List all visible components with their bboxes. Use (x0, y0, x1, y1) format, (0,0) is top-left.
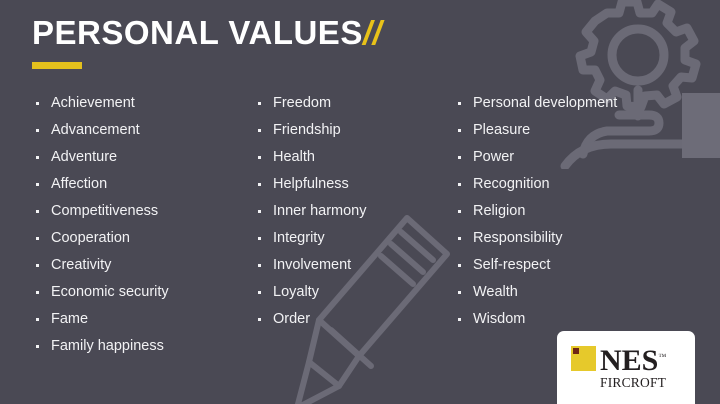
bullet-icon (258, 291, 261, 294)
list-item-label: Competitiveness (51, 203, 158, 219)
bullet-icon (36, 318, 39, 321)
list-item-label: Helpfulness (273, 176, 349, 192)
list-item: Advancement (33, 117, 248, 144)
list-item-label: Wealth (473, 284, 518, 300)
list-item: Personal development (455, 90, 685, 117)
bullet-icon (258, 129, 261, 132)
list-item: Inner harmony (255, 198, 450, 225)
list-item: Adventure (33, 144, 248, 171)
values-column-1: Achievement Advancement Adventure Affect… (33, 90, 248, 360)
bullet-icon (258, 210, 261, 213)
list-item-label: Family happiness (51, 338, 164, 354)
list-item: Friendship (255, 117, 450, 144)
value-list-1: Achievement Advancement Adventure Affect… (33, 90, 248, 360)
bullet-icon (36, 291, 39, 294)
logo-brand-name: NES™ (600, 343, 666, 375)
list-item-label: Order (273, 311, 310, 327)
bullet-icon (258, 237, 261, 240)
list-item: Responsibility (455, 225, 685, 252)
bullet-icon (258, 156, 261, 159)
list-item: Wealth (455, 279, 685, 306)
values-column-2: Freedom Friendship Health Helpfulness In… (255, 90, 450, 333)
list-item-label: Adventure (51, 149, 117, 165)
list-item: Helpfulness (255, 171, 450, 198)
list-item-label: Freedom (273, 95, 331, 111)
bullet-icon (36, 237, 39, 240)
list-item-label: Affection (51, 176, 107, 192)
bullet-icon (458, 237, 461, 240)
list-item-label: Responsibility (473, 230, 562, 246)
list-item: Economic security (33, 279, 248, 306)
list-item: Achievement (33, 90, 248, 117)
logo-square-icon (571, 346, 596, 371)
list-item: Cooperation (33, 225, 248, 252)
list-item-label: Loyalty (273, 284, 319, 300)
list-item: Order (255, 306, 450, 333)
list-item-label: Pleasure (473, 122, 530, 138)
values-column-3: Personal development Pleasure Power Reco… (455, 90, 685, 333)
bullet-icon (36, 156, 39, 159)
list-item-label: Economic security (51, 284, 169, 300)
bullet-icon (258, 102, 261, 105)
bullet-icon (458, 291, 461, 294)
list-item: Pleasure (455, 117, 685, 144)
trademark-icon: ™ (658, 352, 666, 361)
page-title-text: PERSONAL VALUES (32, 14, 363, 51)
list-item-label: Personal development (473, 95, 617, 111)
title-underline-rule (32, 62, 82, 69)
list-item-label: Involvement (273, 257, 351, 273)
list-item-label: Religion (473, 203, 525, 219)
list-item: Religion (455, 198, 685, 225)
logo-dot-icon (573, 348, 579, 354)
list-item-label: Cooperation (51, 230, 130, 246)
bullet-icon (458, 210, 461, 213)
list-item: Wisdom (455, 306, 685, 333)
list-item-label: Inner harmony (273, 203, 367, 219)
bullet-icon (36, 102, 39, 105)
bullet-icon (36, 345, 39, 348)
list-item-label: Health (273, 149, 315, 165)
page-title: PERSONAL VALUES// (32, 14, 382, 52)
value-list-2: Freedom Friendship Health Helpfulness In… (255, 90, 450, 333)
bullet-icon (458, 156, 461, 159)
logo-text: NES™ FIRCROFT (600, 343, 666, 390)
list-item: Integrity (255, 225, 450, 252)
bullet-icon (458, 264, 461, 267)
list-item: Family happiness (33, 333, 248, 360)
list-item: Freedom (255, 90, 450, 117)
list-item: Competitiveness (33, 198, 248, 225)
bullet-icon (458, 102, 461, 105)
bullet-icon (36, 210, 39, 213)
logo: NES™ FIRCROFT (571, 343, 666, 390)
list-item-label: Self-respect (473, 257, 550, 273)
bullet-icon (458, 183, 461, 186)
list-item: Involvement (255, 252, 450, 279)
decorative-block (682, 93, 720, 158)
list-item-label: Creativity (51, 257, 111, 273)
bullet-icon (36, 264, 39, 267)
bullet-icon (458, 318, 461, 321)
list-item: Creativity (33, 252, 248, 279)
list-item: Power (455, 144, 685, 171)
bullet-icon (258, 183, 261, 186)
list-item: Self-respect (455, 252, 685, 279)
list-item-label: Achievement (51, 95, 135, 111)
list-item-label: Recognition (473, 176, 550, 192)
list-item: Recognition (455, 171, 685, 198)
bullet-icon (36, 129, 39, 132)
bullet-icon (258, 264, 261, 267)
value-list-3: Personal development Pleasure Power Reco… (455, 90, 685, 333)
list-item: Affection (33, 171, 248, 198)
logo-brand-word: NES (600, 344, 658, 377)
list-item: Health (255, 144, 450, 171)
logo-panel: NES™ FIRCROFT (557, 331, 695, 404)
list-item-label: Fame (51, 311, 88, 327)
bullet-icon (258, 318, 261, 321)
list-item: Loyalty (255, 279, 450, 306)
list-item-label: Integrity (273, 230, 325, 246)
list-item: Fame (33, 306, 248, 333)
title-accent-slashes: // (363, 14, 382, 51)
bullet-icon (458, 129, 461, 132)
bullet-icon (36, 183, 39, 186)
list-item-label: Advancement (51, 122, 140, 138)
logo-sub-name: FIRCROFT (600, 376, 666, 390)
list-item-label: Power (473, 149, 514, 165)
slide-canvas: PERSONAL VALUES// Achievement Advancemen… (0, 0, 720, 404)
list-item-label: Wisdom (473, 311, 525, 327)
list-item-label: Friendship (273, 122, 341, 138)
